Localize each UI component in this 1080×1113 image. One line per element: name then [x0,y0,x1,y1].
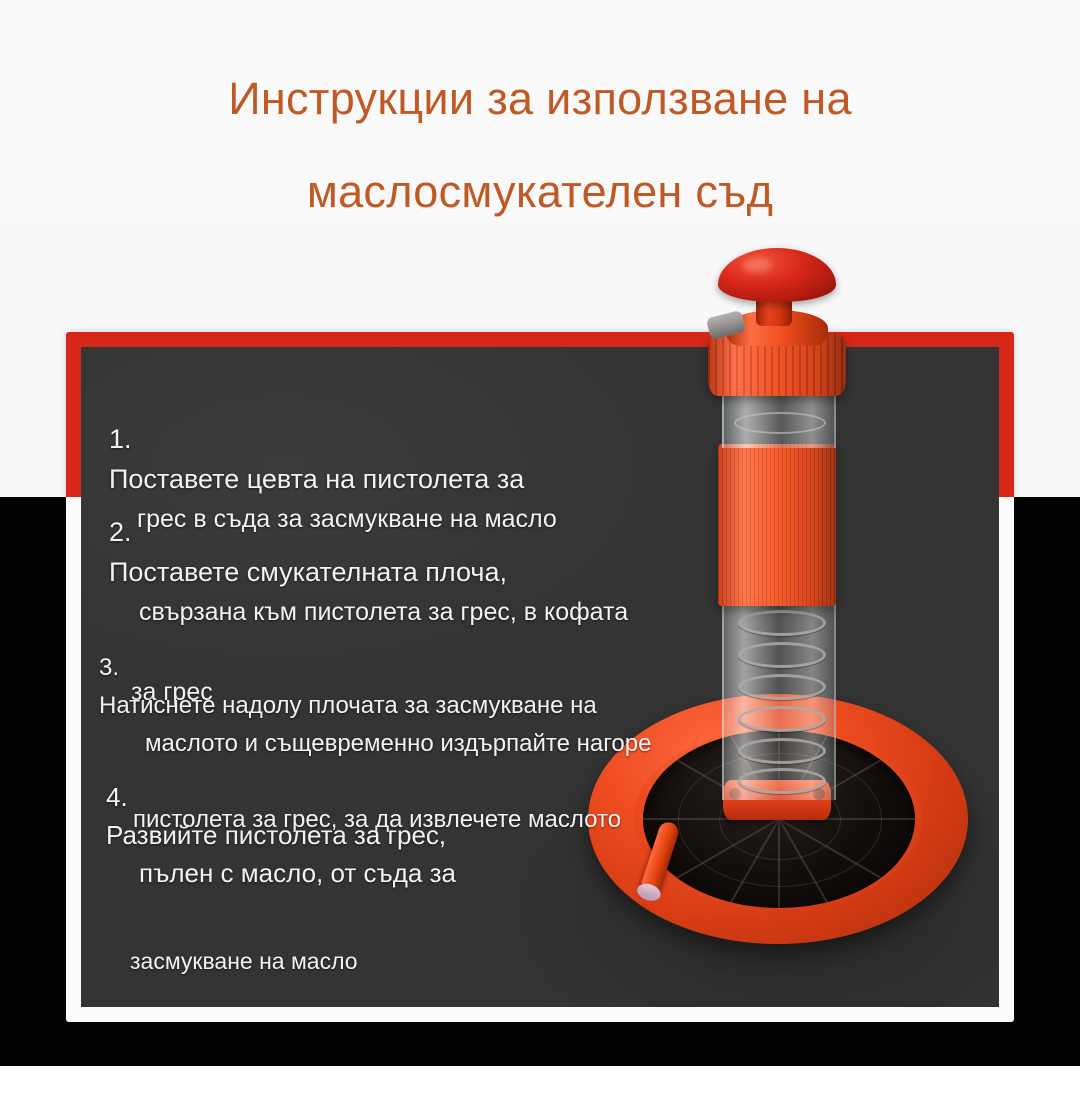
step-number-3: 3. [99,654,119,681]
list-item-step-1: 1. Поставете цевта на пистолета за грес … [109,379,557,579]
step-text-1-line-2: грес в съда за засмукване на масло [137,499,557,539]
list-item-step-2: 2. Поставете смукателната плоча, свързан… [109,472,628,752]
list-item-step-4: 4. Развийте пистолета за грес, пълен с м… [106,740,456,1007]
step-text-3-line-3: пистолета за грес, за да извлечете масло… [133,801,651,839]
instruction-panel: 1. Поставете цевта на пистолета за грес … [66,332,1014,1022]
panel-content-area: 1. Поставете цевта на пистолета за грес … [81,347,999,1007]
step-number-4: 4. [106,782,128,812]
step-number-1: 1. [109,424,132,454]
background-band-footer [0,1066,1080,1113]
page-title: Инструкции за използване на маслосмукате… [0,52,1080,238]
step-text-2-line-1: Поставете смукателната плоча, [109,557,507,587]
step-text-3-line-2: маслото и същевременно издърпайте нагоре [145,725,651,763]
step-text-2-line-3: за грес [131,672,628,712]
instruction-list: 1. Поставете цевта на пистолета за грес … [81,347,999,1007]
step-text-4-line-1: Развийте пистолета за грес, [106,820,446,850]
step-text-4-line-2: пълен с масло, от съда за [139,854,456,892]
step-text-3-line-1: Натиснете надолу плочата за засмукване н… [99,692,597,719]
step-text-2-line-2: свързана към пистолета за грес, в кофата [139,592,628,632]
step-text-4-line-3: засмукване на масло [130,942,456,980]
list-item-step-3: 3. Натиснете надолу плочата за засмукван… [99,611,651,877]
instruction-infographic: Инструкции за използване на маслосмукате… [0,0,1080,1113]
step-text-1-line-1: Поставете цевта на пистолета за [109,464,524,494]
step-number-2: 2. [109,517,132,547]
